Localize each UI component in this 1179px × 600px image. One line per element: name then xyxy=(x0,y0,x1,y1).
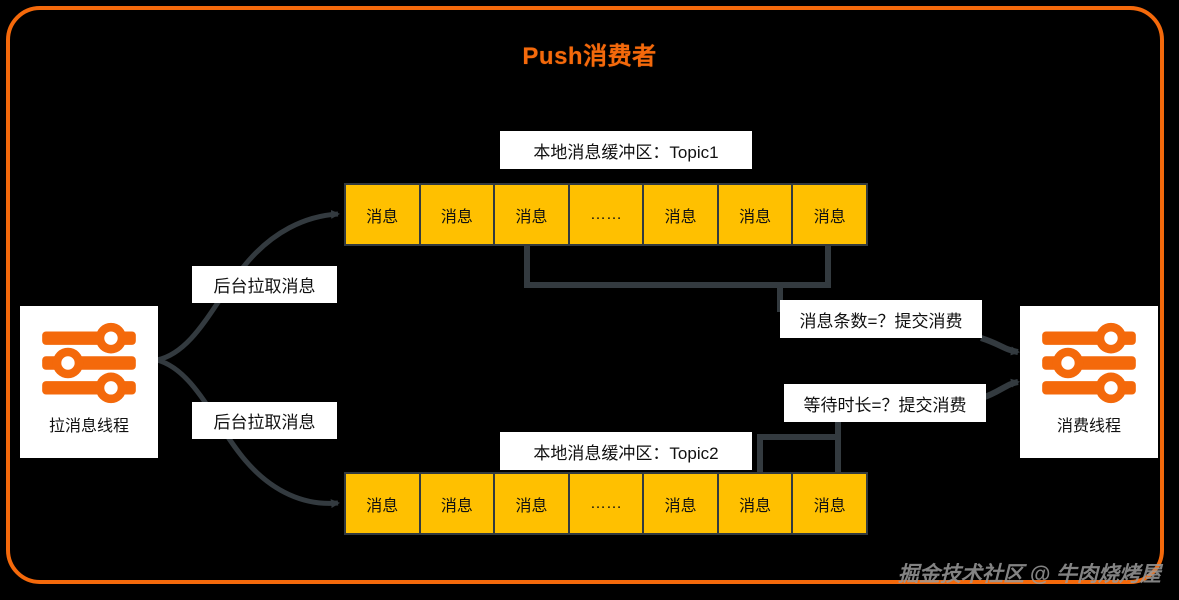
message-cell: 消息 xyxy=(421,185,496,244)
message-cell: 消息 xyxy=(346,185,421,244)
edge-commit-wait-to-consumer xyxy=(982,382,1018,398)
message-cell: 消息 xyxy=(421,474,496,533)
edge-label-pull-bottom: 后台拉取消息 xyxy=(192,402,337,439)
node-pull-thread[interactable]: 拉消息线程 xyxy=(20,306,158,458)
buffer-caption-topic1: 本地消息缓冲区：Topic1 xyxy=(500,131,752,169)
message-cell: 消息 xyxy=(793,185,866,244)
message-cell: 消息 xyxy=(793,474,866,533)
edge-commit-count-to-consumer xyxy=(981,338,1018,352)
message-cell: 消息 xyxy=(495,474,570,533)
page-title: Push消费者 xyxy=(0,36,1179,71)
message-cell-ellipsis: …… xyxy=(570,185,645,244)
buffer-caption-topic2: 本地消息缓冲区：Topic2 xyxy=(500,432,752,470)
message-cell: 消息 xyxy=(644,474,719,533)
message-buffer-topic1: 消息 消息 消息 …… 消息 消息 消息 xyxy=(344,183,868,246)
sliders-icon xyxy=(35,320,143,406)
sliders-icon xyxy=(1035,320,1143,406)
diagram-canvas: Push消费者 本地消息缓冲区：Topic1 消息 消息 消息 …… 消息 消息… xyxy=(0,0,1179,600)
edge-label-pull-top: 后台拉取消息 xyxy=(192,266,337,303)
edge-label-commit-wait: 等待时长=？提交消费 xyxy=(784,384,986,422)
bracket-topic1 xyxy=(527,246,828,285)
message-cell: 消息 xyxy=(719,185,794,244)
message-cell-ellipsis: …… xyxy=(570,474,645,533)
message-buffer-topic2: 消息 消息 消息 …… 消息 消息 消息 xyxy=(344,472,868,535)
node-consume-thread[interactable]: 消费线程 xyxy=(1020,306,1158,458)
watermark: 掘金技术社区 @ 牛肉烧烤屋 xyxy=(898,558,1161,588)
node-pull-thread-label: 拉消息线程 xyxy=(49,412,129,436)
node-consume-thread-label: 消费线程 xyxy=(1057,412,1121,436)
message-cell: 消息 xyxy=(346,474,421,533)
message-cell: 消息 xyxy=(644,185,719,244)
edge-label-commit-count: 消息条数=？提交消费 xyxy=(780,300,982,338)
message-cell: 消息 xyxy=(719,474,794,533)
edge-topic1-to-commit-count xyxy=(730,285,780,312)
message-cell: 消息 xyxy=(495,185,570,244)
